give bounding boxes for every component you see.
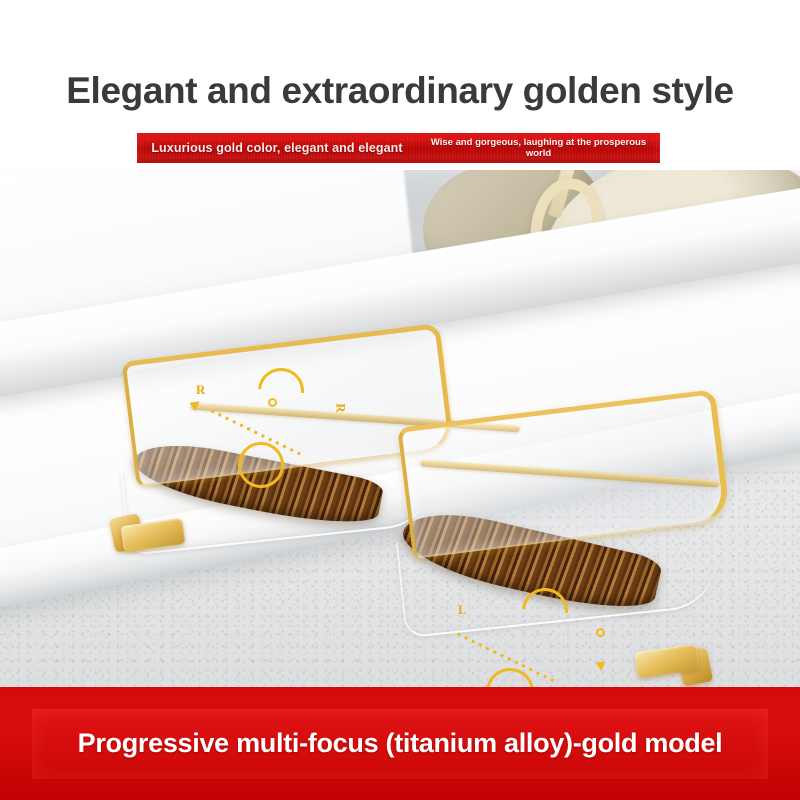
tagline-banner: Luxurious gold color, elegant and elegan… xyxy=(137,133,660,163)
page-title: Elegant and extraordinary golden style xyxy=(0,72,800,109)
progressive-marking-ring-far xyxy=(238,442,284,488)
product-model-label: Progressive multi-focus (titanium alloy)… xyxy=(78,728,723,759)
eyeglasses: R R L xyxy=(0,170,800,687)
progressive-marking-triangle-far xyxy=(189,401,200,411)
lens-letter-right-far: R xyxy=(196,382,205,398)
headline-zone: Elegant and extraordinary golden style xyxy=(0,0,800,133)
progressive-marking-dot-far xyxy=(268,398,277,407)
lens-letter-left-near: L xyxy=(458,602,467,618)
progressive-marking-dot-near xyxy=(596,628,605,637)
product-photo: R R L xyxy=(0,170,800,687)
product-advertisement-page: Elegant and extraordinary golden style L… xyxy=(0,0,800,800)
tagline-left-text: Luxurious gold color, elegant and elegan… xyxy=(137,133,417,163)
progressive-marking-triangle-near xyxy=(595,661,606,671)
progressive-marking-ring-near xyxy=(486,668,534,687)
lens-letter-rotated-far: R xyxy=(333,403,349,412)
tagline-right-text: Wise and gorgeous, laughing at the prosp… xyxy=(417,133,660,163)
bottom-banner: Progressive multi-focus (titanium alloy)… xyxy=(0,687,800,800)
